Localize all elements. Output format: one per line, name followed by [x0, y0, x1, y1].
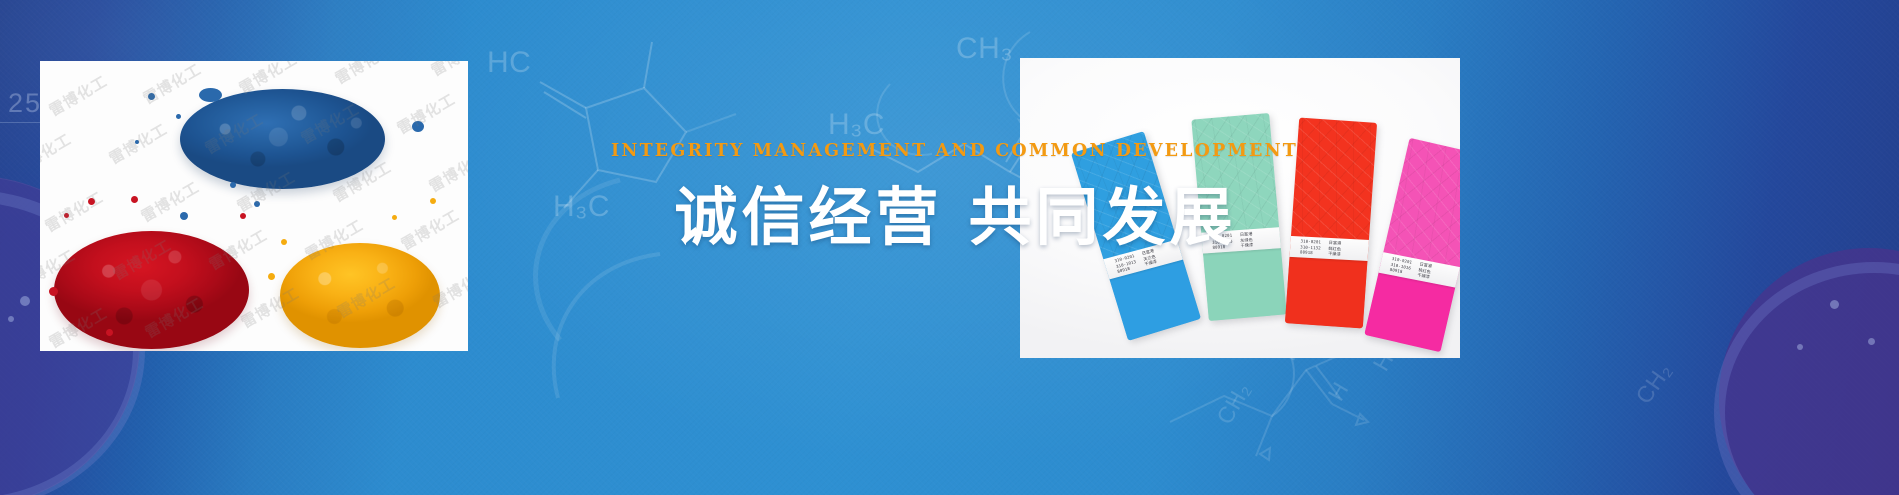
watermark: 雷博化工 — [427, 61, 468, 81]
watermark: 雷博化工 — [333, 272, 399, 322]
banner-text-block: INTEGRITY MANAGEMENT AND COMMON DEVELOPM… — [0, 143, 1899, 255]
orb-dot — [1797, 344, 1803, 350]
watermark: 雷博化工 — [141, 292, 207, 342]
watermark: 雷博化工 — [45, 70, 111, 120]
tagline-english: INTEGRITY MANAGEMENT AND COMMON DEVELOPM… — [0, 143, 1899, 161]
watermark: 雷博化工 — [139, 61, 205, 109]
headline-chinese: 诚信经营 共同发展 — [0, 181, 1899, 255]
promo-banner: 250 HC H₃C H₃C CH₃ — [0, 0, 1899, 495]
orb-dot — [8, 316, 14, 322]
watermark: 雷博化工 — [429, 262, 468, 312]
watermark: 雷博化工 — [237, 282, 303, 332]
watermark: 雷博化工 — [297, 98, 363, 148]
watermark: 雷博化工 — [235, 61, 301, 99]
watermark: 雷博化工 — [393, 88, 459, 138]
watermark: 雷博化工 — [45, 302, 111, 351]
orb-dot — [1868, 338, 1875, 345]
orb-dot — [20, 296, 30, 306]
orb-dot — [1830, 300, 1839, 309]
watermark: 雷博化工 — [331, 61, 397, 89]
